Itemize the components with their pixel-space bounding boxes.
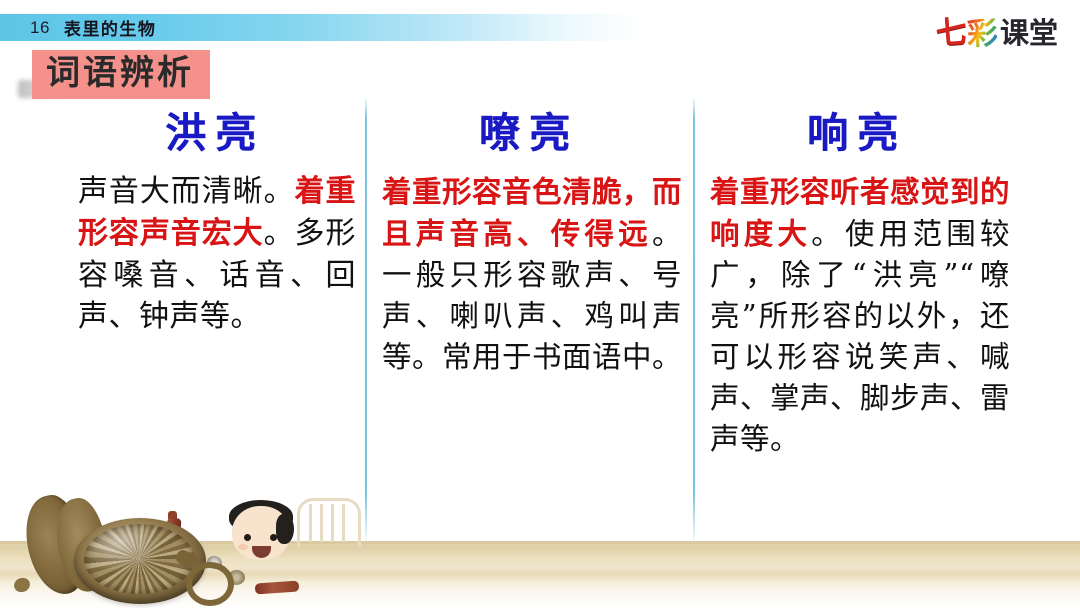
pocket-watch-hinge-icon bbox=[12, 576, 32, 595]
boy-hair-side-icon bbox=[276, 514, 294, 544]
boy-eye-left-icon bbox=[244, 534, 251, 541]
boy-eye-right-icon bbox=[270, 534, 277, 541]
word-column-xiangliang: 响亮 着重形容听者感觉到的响度大。使用范围较广，除了“洪亮”“嘹亮”所形容的以外… bbox=[710, 108, 1010, 460]
word-heading: 响亮 bbox=[710, 108, 1010, 159]
word-heading: 嘹亮 bbox=[382, 108, 682, 159]
wooden-chair-back-icon bbox=[297, 498, 361, 547]
chair-slat-icon bbox=[331, 504, 334, 542]
pocket-watch-and-boy-illustration bbox=[0, 470, 420, 608]
word-heading: 洪亮 bbox=[78, 108, 356, 159]
chair-slat-icon bbox=[342, 504, 345, 542]
word-definition: 着重形容听者感觉到的响度大。使用范围较广，除了“洪亮”“嘹亮”所形容的以外，还可… bbox=[710, 171, 1010, 460]
slide-canvas: 16 表里的生物 七 彩 课堂 词语辨析 洪亮 声音大而清晰。着重形容声音宏大。… bbox=[0, 0, 1080, 608]
definition-emphasis-text: 着重形容音色清脆，而且声音高、传得远 bbox=[382, 174, 682, 251]
lesson-number: 16 bbox=[30, 18, 50, 38]
chair-slat-icon bbox=[320, 504, 323, 542]
lesson-header-content: 16 表里的生物 bbox=[30, 14, 156, 41]
boy-cheek-icon bbox=[238, 544, 248, 550]
lesson-title: 表里的生物 bbox=[64, 15, 157, 40]
red-rod-icon bbox=[255, 580, 300, 594]
brand-logo-ketang: 课堂 bbox=[1000, 19, 1058, 48]
lesson-header-bar: 16 表里的生物 bbox=[0, 14, 1080, 41]
brand-logo-cai: 彩 bbox=[966, 18, 998, 51]
pocket-watch-ring-icon bbox=[186, 562, 234, 606]
word-definition: 着重形容音色清脆，而且声音高、传得远。一般只形容歌声、号声、喇叭声、鸡叫声等。常… bbox=[382, 171, 682, 378]
chair-slat-icon bbox=[309, 504, 312, 542]
definition-plain-text: 声音大而清晰。 bbox=[78, 174, 295, 209]
word-column-honglian: 洪亮 声音大而清晰。着重形容声音宏大。多形容嗓音、话音、回声、钟声等。 bbox=[78, 108, 356, 338]
definition-plain-text: 。使用范围较广，除了“洪亮”“嘹亮”所形容的以外，还可以形容说笑声、喊声、掌声、… bbox=[710, 217, 1010, 456]
section-title-group: 词语辨析 bbox=[14, 50, 274, 102]
word-definition: 声音大而清晰。着重形容声音宏大。多形容嗓音、话音、回声、钟声等。 bbox=[78, 171, 356, 338]
brand-logo: 七 彩 课堂 bbox=[936, 12, 1058, 54]
word-column-liaoliang: 嘹亮 着重形容音色清脆，而且声音高、传得远。一般只形容歌声、号声、喇叭声、鸡叫声… bbox=[382, 108, 682, 378]
brand-logo-qi: 七 bbox=[935, 16, 967, 49]
section-title: 词语辨析 bbox=[32, 50, 210, 99]
